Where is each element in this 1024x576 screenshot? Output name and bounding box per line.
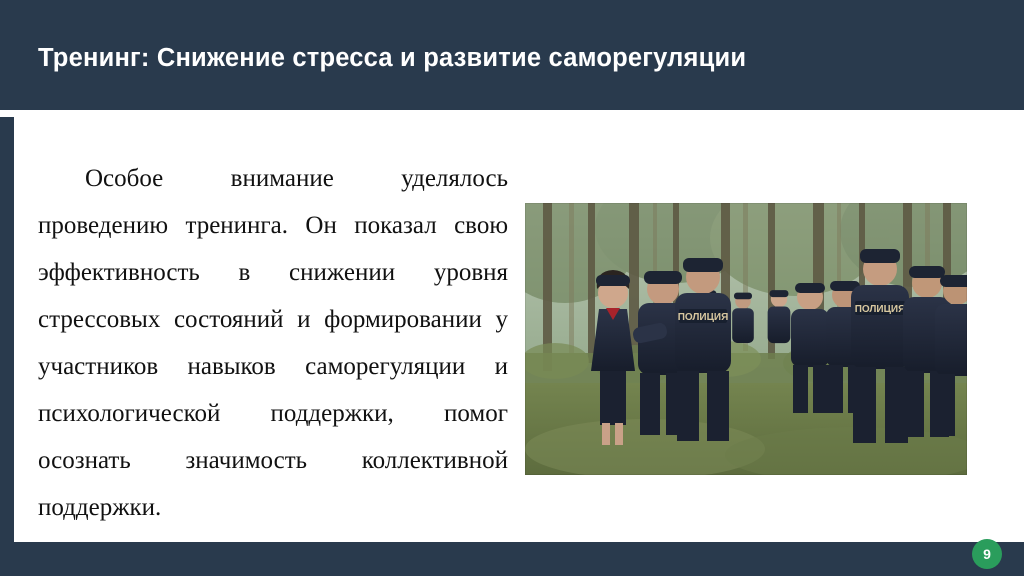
footer-band (0, 542, 1024, 576)
header-band: Тренинг: Снижение стресса и развитие сам… (0, 0, 1024, 110)
slide-root: Тренинг: Снижение стресса и развитие сам… (0, 0, 1024, 576)
sign-text-2: ПОЛИЦИЯ (855, 304, 906, 315)
photo-image: ПОЛИЦИЯ (525, 203, 967, 475)
page-title: Тренинг: Снижение стресса и развитие сам… (38, 44, 978, 73)
photo-illustration: ПОЛИЦИЯ (525, 203, 967, 475)
body-paragraph: Особое внимание уделялось проведению тре… (38, 155, 508, 531)
left-accent-bar (0, 117, 14, 542)
sign-text: ПОЛИЦИЯ (678, 312, 729, 323)
page-number-badge: 9 (972, 539, 1002, 569)
uniform-back-sign: ПОЛИЦИЯ (678, 309, 729, 323)
